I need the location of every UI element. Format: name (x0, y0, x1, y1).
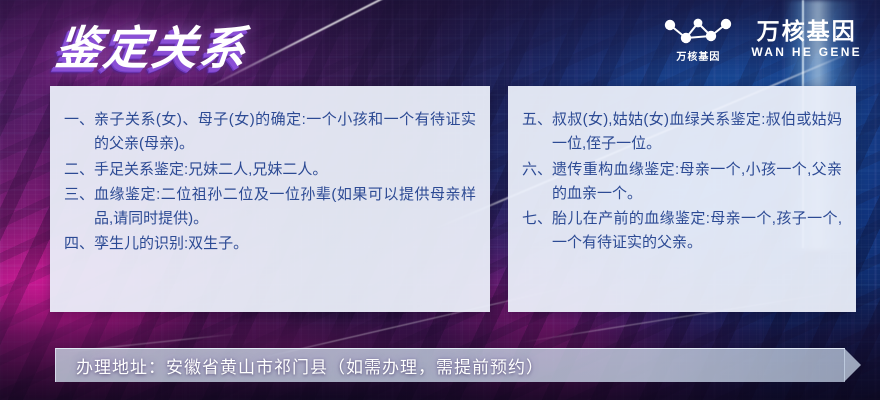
list-item: 三、 血缘鉴定:二位祖孙二位及一位孙辈(如果可以提供母亲样品,请同时提供)。 (64, 183, 476, 232)
list-item-text: 血缘鉴定:二位祖孙二位及一位孙辈(如果可以提供母亲样品,请同时提供)。 (94, 183, 476, 232)
address-bar-arrow-tip (844, 348, 861, 382)
list-item-number: 四、 (64, 232, 94, 256)
list-item-text: 手足关系鉴定:兄妹二人,兄妹二人。 (94, 158, 476, 182)
logo-mark-caption: 万核基因 (676, 53, 720, 63)
poster-root: 鉴定关系 (0, 0, 880, 400)
list-item-number: 六、 (522, 158, 552, 182)
list-item: 二、 手足关系鉴定:兄妹二人,兄妹二人。 (64, 158, 476, 182)
logo-wordmark: 万核基因 WAN HE GENE (751, 19, 862, 57)
page-title: 鉴定关系 (53, 12, 252, 78)
list-item-number: 五、 (522, 108, 552, 132)
panel-left: 一、 亲子关系(女)、母子(女)的确定:一个小孩和一个有待证实的父亲(母亲)。 … (50, 86, 490, 312)
list-item: 四、 孪生儿的识别:双生子。 (64, 232, 476, 256)
list-item-number: 七、 (522, 207, 552, 231)
list-item: 一、 亲子关系(女)、母子(女)的确定:一个小孩和一个有待证实的父亲(母亲)。 (64, 108, 476, 157)
list-item-number: 二、 (64, 158, 94, 182)
list-item: 六、 遗传重构血缘鉴定:母亲一个,小孩一个,父亲的血亲一个。 (522, 158, 842, 207)
content-panels: 一、 亲子关系(女)、母子(女)的确定:一个小孩和一个有待证实的父亲(母亲)。 … (50, 86, 856, 312)
list-item-text: 叔叔(女),姑姑(女)血绿关系鉴定:叔伯或姑妈一位,侄子一位。 (552, 108, 842, 157)
panel-right: 五、 叔叔(女),姑姑(女)血绿关系鉴定:叔伯或姑妈一位,侄子一位。 六、 遗传… (508, 86, 856, 312)
logo-brand-en: WAN HE GENE (751, 46, 862, 58)
brand-logo: 万核基因 万核基因 WAN HE GENE (661, 14, 862, 63)
address-text: 办理地址：安徽省黄山市祁门县（如需办理，需提前预约） (76, 353, 544, 378)
list-item: 七、 胎儿在产前的血缘鉴定:母亲一个,孩子一个,一个有待证实的父亲。 (522, 207, 842, 256)
list-item-number: 三、 (64, 183, 94, 207)
molecule-dna-nodes-icon (661, 14, 735, 50)
list-item: 五、 叔叔(女),姑姑(女)血绿关系鉴定:叔伯或姑妈一位,侄子一位。 (522, 108, 842, 157)
list-item-text: 孪生儿的识别:双生子。 (94, 232, 476, 256)
address-bar: 办理地址：安徽省黄山市祁门县（如需办理，需提前预约） (55, 348, 845, 382)
list-item-number: 一、 (64, 108, 94, 132)
logo-brand-cn: 万核基因 (757, 19, 857, 43)
list-item-text: 遗传重构血缘鉴定:母亲一个,小孩一个,父亲的血亲一个。 (552, 158, 842, 207)
list-item-text: 胎儿在产前的血缘鉴定:母亲一个,孩子一个,一个有待证实的父亲。 (552, 207, 842, 256)
list-item-text: 亲子关系(女)、母子(女)的确定:一个小孩和一个有待证实的父亲(母亲)。 (94, 108, 476, 157)
logo-mark: 万核基因 (661, 14, 735, 63)
